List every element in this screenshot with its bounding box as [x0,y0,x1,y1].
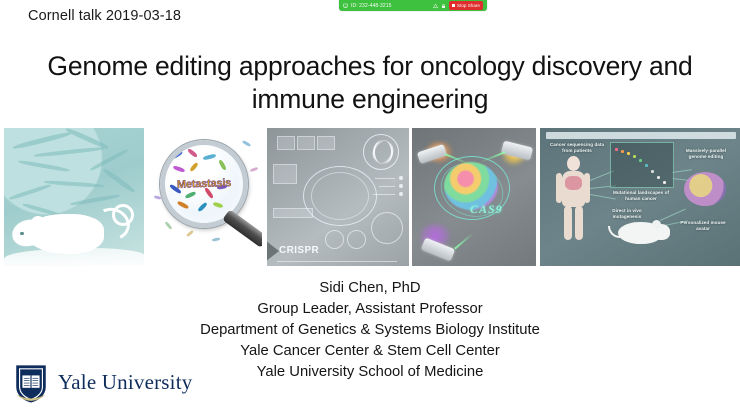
cas9-label: CAS9 [470,202,503,217]
yale-logo: Yale University [10,362,210,410]
screen-share-bar[interactable]: ID: 232-448-3215 Stop Share [339,0,487,11]
presentation-slide: Metastasis CRISPR [0,0,740,416]
genome-editing-blob [684,172,726,206]
workflow-topbar [546,132,736,139]
yale-shield-book-icon [14,364,48,404]
human-figure [556,156,590,240]
slide-header: Cornell talk 2019-03-18 [28,8,181,24]
crispr-hud-panel: CRISPR [267,128,409,266]
crispr-label: CRISPR [279,245,319,256]
workflow-label-mutagenesis: Direct in vivo mutagenesis [602,208,652,219]
dna-helix-icon [363,134,399,170]
metastasis-magnifier-panel: Metastasis [150,128,262,266]
panel-arrow [267,240,279,262]
workflow-label-sequencing: Cancer sequencing data from patients [548,142,606,153]
mouse-ear [31,216,45,230]
workflow-label-avatar: Personalized mouse avatar [676,220,730,231]
author-department: Department of Genetics & Systems Biology… [70,320,670,341]
workflow-panel: Cancer sequencing data from patients Mut… [540,128,740,266]
workflow-label-editing: Massively-parallel genome editing [678,148,734,159]
page-title: Genome editing approaches for oncology d… [34,50,706,115]
author-role: Group Leader, Assistant Professor [70,299,670,320]
mouse-tissue-panel [4,128,144,266]
stop-share-label: Stop Share [457,2,480,9]
mouse-eye [20,232,24,236]
cas9-space-panel: CAS9 [412,128,536,266]
workflow-label-landscape: Mutational landscapes of human cancer [606,190,676,201]
yale-wordmark: Yale University [58,370,192,395]
stop-square-icon [452,4,455,7]
stop-share-button[interactable]: Stop Share [449,1,483,10]
hud-ring-inner [311,172,369,220]
metastasis-label: Metastasis [177,177,232,191]
meeting-id-label: ID: 232-448-3215 [351,3,392,9]
lock-icon[interactable] [441,3,446,9]
mouse-tail-curl [112,204,134,226]
warning-triangle-icon[interactable] [433,3,438,9]
author-name: Sidi Chen, PhD [70,278,670,299]
image-strip: Metastasis CRISPR [0,128,740,266]
monitor-icon [343,3,348,9]
author-center: Yale Cancer Center & Stem Cell Center [70,341,670,362]
mutation-plot [610,142,674,188]
